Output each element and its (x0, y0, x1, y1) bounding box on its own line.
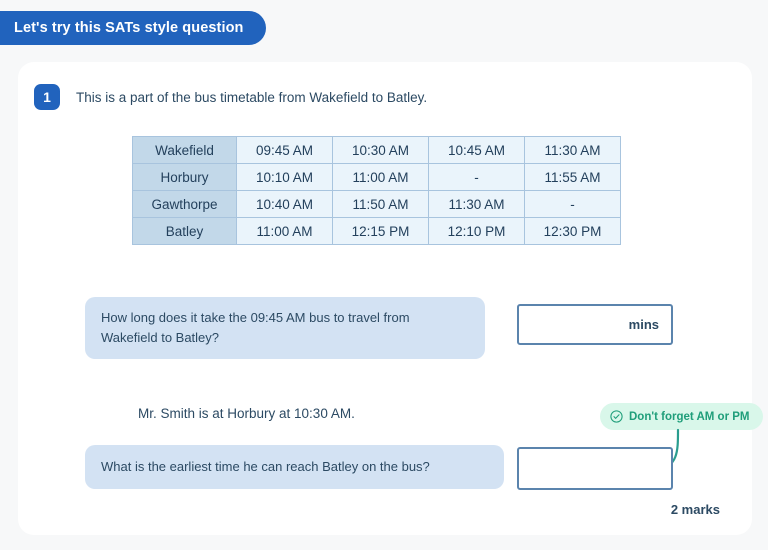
table-cell-time: 10:40 AM (237, 191, 333, 218)
table-row: Gawthorpe 10:40 AM 11:50 AM 11:30 AM - (133, 191, 621, 218)
table-cell-time: 11:50 AM (333, 191, 429, 218)
table-cell-time: 11:00 AM (237, 218, 333, 245)
question-card: 1 This is a part of the bus timetable fr… (18, 62, 752, 535)
hint-badge-text: Don't forget AM or PM (629, 411, 750, 423)
table-cell-stop: Batley (133, 218, 237, 245)
check-circle-icon (610, 410, 623, 423)
table-cell-stop: Wakefield (133, 137, 237, 164)
table-row: Wakefield 09:45 AM 10:30 AM 10:45 AM 11:… (133, 137, 621, 164)
table-cell-time: 11:30 AM (429, 191, 525, 218)
table-cell-stop: Gawthorpe (133, 191, 237, 218)
header-banner: Let's try this SATs style question (0, 11, 266, 45)
table-cell-time: - (429, 164, 525, 191)
table-cell-time: 12:30 PM (525, 218, 621, 245)
table-cell-time: 09:45 AM (237, 137, 333, 164)
part-a-answer-box[interactable]: mins (517, 304, 673, 345)
question-intro-text: This is a part of the bus timetable from… (76, 90, 427, 105)
marks-label: 2 marks (671, 502, 720, 517)
table-row: Horbury 10:10 AM 11:00 AM - 11:55 AM (133, 164, 621, 191)
part-b-statement: Mr. Smith is at Horbury at 10:30 AM. (138, 406, 355, 421)
table-cell-time: 10:45 AM (429, 137, 525, 164)
table-cell-time: 10:10 AM (237, 164, 333, 191)
header-banner-title: Let's try this SATs style question (14, 20, 244, 36)
table-cell-stop: Horbury (133, 164, 237, 191)
table-cell-time: 11:30 AM (525, 137, 621, 164)
table-cell-time: - (525, 191, 621, 218)
question-number-badge: 1 (34, 84, 60, 110)
question-header: 1 This is a part of the bus timetable fr… (34, 84, 427, 110)
part-a-unit-label: mins (629, 317, 659, 332)
table-cell-time: 11:55 AM (525, 164, 621, 191)
table-cell-time: 11:00 AM (333, 164, 429, 191)
table-cell-time: 12:15 PM (333, 218, 429, 245)
part-b-prompt: What is the earliest time he can reach B… (85, 445, 504, 489)
hint-badge: Don't forget AM or PM (600, 403, 763, 430)
table-cell-time: 10:30 AM (333, 137, 429, 164)
part-b-answer-box[interactable] (517, 447, 673, 490)
bus-timetable-container: Wakefield 09:45 AM 10:30 AM 10:45 AM 11:… (132, 136, 621, 245)
bus-timetable: Wakefield 09:45 AM 10:30 AM 10:45 AM 11:… (132, 136, 621, 245)
table-row: Batley 11:00 AM 12:15 PM 12:10 PM 12:30 … (133, 218, 621, 245)
table-cell-time: 12:10 PM (429, 218, 525, 245)
part-a-prompt: How long does it take the 09:45 AM bus t… (85, 297, 485, 359)
